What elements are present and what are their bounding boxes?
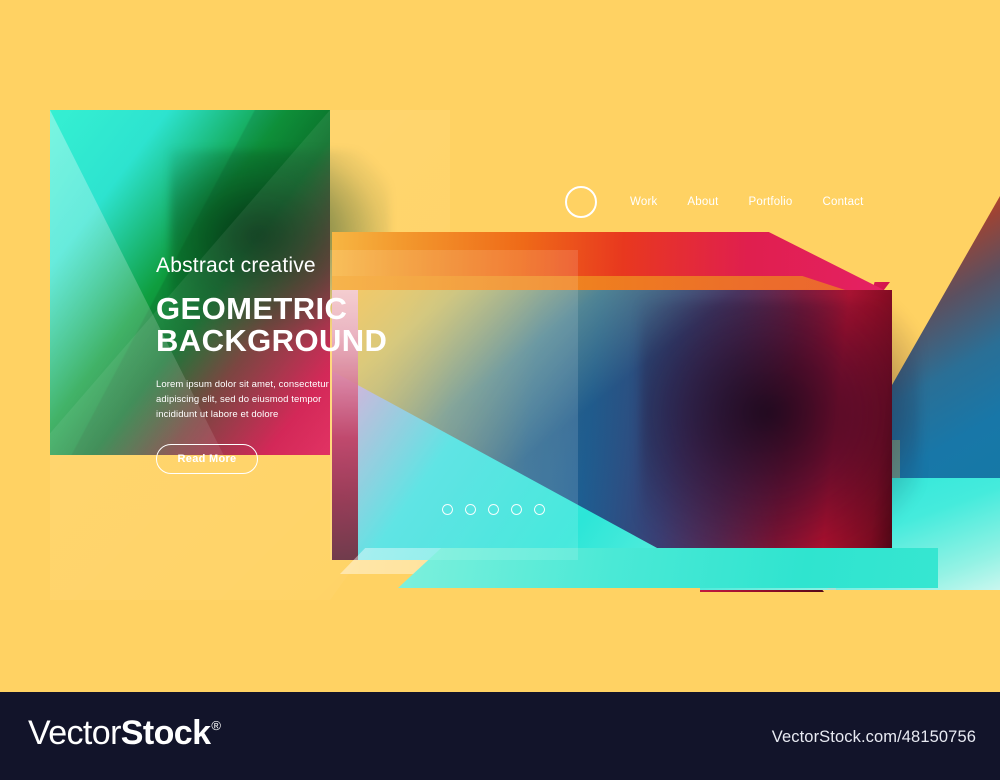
watermark-url: VectorStock.com/48150756: [772, 728, 976, 747]
nav-item-contact[interactable]: Contact: [822, 196, 863, 208]
hero-artwork: Work About Portfolio Contact Abstract cr…: [0, 0, 1000, 692]
logo-text-thin: Vector: [28, 714, 121, 753]
hero-eyebrow: Abstract creative: [156, 254, 556, 277]
screenshot-root: Work About Portfolio Contact Abstract cr…: [0, 0, 1000, 780]
read-more-button[interactable]: Read More: [156, 444, 258, 474]
watermark-footer: Vector Stock ® VectorStock.com/48150756: [0, 692, 1000, 780]
carousel-dots: [442, 504, 545, 515]
nav-item-portfolio[interactable]: Portfolio: [748, 196, 792, 208]
nav-links: Work About Portfolio Contact: [630, 196, 864, 208]
registered-trademark-icon: ®: [211, 718, 220, 733]
primary-navigation: Work About Portfolio Contact: [565, 186, 864, 218]
logo-text-bold: Stock: [121, 714, 211, 753]
vectorstock-logo: Vector Stock ®: [28, 714, 220, 753]
carousel-dot[interactable]: [465, 504, 476, 515]
hero-copy-block: Abstract creative GEOMETRIC BACKGROUND L…: [156, 254, 556, 474]
carousel-dot[interactable]: [488, 504, 499, 515]
hero-headline: GEOMETRIC BACKGROUND: [156, 293, 556, 356]
carousel-dot[interactable]: [511, 504, 522, 515]
carousel-dot[interactable]: [442, 504, 453, 515]
nav-item-work[interactable]: Work: [630, 196, 657, 208]
circle-logo-icon[interactable]: [565, 186, 597, 218]
shape-center-slab-bloom: [640, 300, 920, 550]
hero-subtext: Lorem ipsum dolor sit amet, consectetur …: [156, 378, 351, 422]
nav-item-about[interactable]: About: [687, 196, 718, 208]
carousel-dot[interactable]: [534, 504, 545, 515]
